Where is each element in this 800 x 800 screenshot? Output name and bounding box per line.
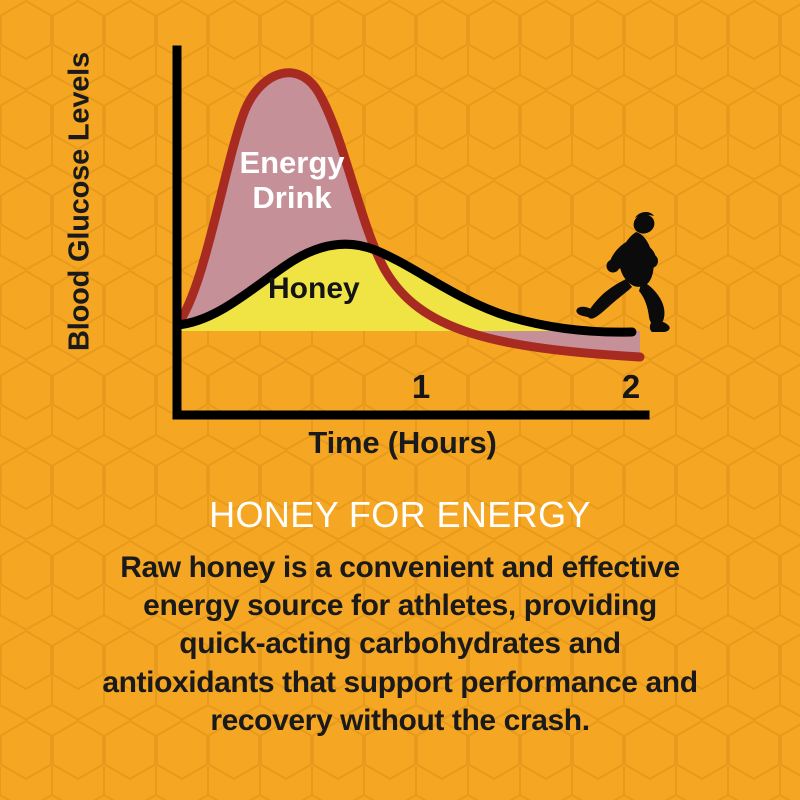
y-axis-title: Blood Glucose Levels <box>64 52 97 352</box>
glucose-chart: Blood Glucose Levels Time (Hours) 1 2 En… <box>0 0 800 480</box>
body-line: antioxidants that support performance an… <box>35 664 765 702</box>
series-label-honey: Honey <box>268 272 418 306</box>
x-tick-label-2: 2 <box>611 368 651 406</box>
x-tick-label-1: 1 <box>401 368 441 406</box>
caption-block: HONEY FOR ENERGY Raw honey is a convenie… <box>0 495 800 741</box>
series-label-energy-line1: Energy <box>222 146 362 181</box>
body-line: quick-acting carbohydrates and <box>35 625 765 663</box>
x-axis-title: Time (Hours) <box>175 425 630 461</box>
honey-energy-infographic: Blood Glucose Levels Time (Hours) 1 2 En… <box>0 0 800 800</box>
running-athlete-icon <box>576 203 696 333</box>
body-line: recovery without the crash. <box>35 702 765 740</box>
headline: HONEY FOR ENERGY <box>0 495 800 535</box>
body-line: Raw honey is a convenient and effective <box>35 549 765 587</box>
series-label-energy-drink: Energy Drink <box>222 146 362 215</box>
body-copy: Raw honey is a convenient and effective … <box>35 549 765 741</box>
series-label-energy-line2: Drink <box>222 181 362 216</box>
body-line: energy source for athletes, providing <box>35 587 765 625</box>
